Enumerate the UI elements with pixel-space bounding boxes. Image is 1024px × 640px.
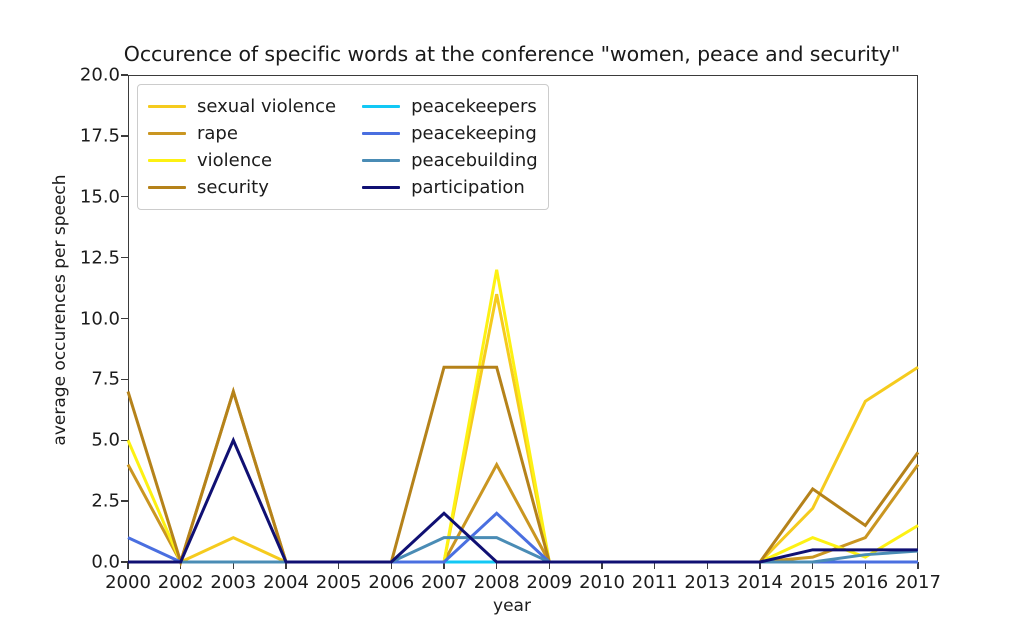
y-axis-tick-labels: 0.02.55.07.510.012.515.017.520.0	[60, 0, 120, 640]
y-axis-tick-label: 10.0	[80, 308, 120, 329]
x-axis-tick-label: 2015	[790, 572, 836, 593]
y-axis-tick-label: 12.5	[80, 247, 120, 268]
y-axis-tick-mark	[121, 196, 128, 197]
legend-entry: peacekeepers	[362, 93, 538, 120]
x-axis-tick-label: 2014	[737, 572, 783, 593]
x-axis-tick-label: 2005	[316, 572, 362, 593]
legend-entry: participation	[362, 174, 538, 201]
legend-color-swatch	[362, 159, 400, 162]
x-axis-tick-label: 2002	[158, 572, 204, 593]
legend-label: violence	[197, 150, 272, 171]
x-axis-tick-label: 2009	[526, 572, 572, 593]
legend-entry: peacekeeping	[362, 120, 538, 147]
y-axis-tick-label: 7.5	[91, 369, 120, 390]
legend-color-swatch	[148, 159, 186, 162]
x-axis-tick-label: 2000	[105, 572, 151, 593]
legend-color-swatch	[148, 132, 186, 135]
y-axis-tick-label: 15.0	[80, 186, 120, 207]
legend-label: peacekeepers	[411, 96, 537, 117]
y-axis-tick-label: 17.5	[80, 125, 120, 146]
legend-label: sexual violence	[197, 96, 336, 117]
legend-entry: violence	[148, 147, 336, 174]
legend-color-swatch	[362, 105, 400, 108]
x-axis-tick-label: 2016	[842, 572, 888, 593]
x-axis-tick-label: 2010	[579, 572, 625, 593]
legend-label: security	[197, 177, 269, 198]
x-axis-tick-label: 2003	[210, 572, 256, 593]
legend-entry: sexual violence	[148, 93, 336, 120]
y-axis-tick-mark	[121, 379, 128, 380]
y-axis-tick-mark	[121, 135, 128, 136]
x-axis-tick-label: 2011	[632, 572, 678, 593]
x-axis-tick-label: 2013	[684, 572, 730, 593]
legend-color-swatch	[362, 132, 400, 135]
y-axis-tick-mark	[121, 74, 128, 75]
legend-color-swatch	[148, 186, 186, 189]
x-axis-tick-label: 2017	[895, 572, 941, 593]
legend-color-swatch	[148, 105, 186, 108]
x-axis-tick-label: 2004	[263, 572, 309, 593]
x-axis-tick-label: 2006	[368, 572, 414, 593]
x-axis-tick-label: 2008	[474, 572, 520, 593]
series-line	[128, 270, 918, 562]
legend-entry: rape	[148, 120, 336, 147]
chart-figure: Occurence of specific words at the confe…	[0, 0, 1024, 640]
legend-entry: security	[148, 174, 336, 201]
y-axis-tick-mark	[121, 257, 128, 258]
y-axis-label-container: average occurences per speech	[26, 0, 50, 640]
x-axis-label: year	[0, 596, 1024, 616]
series-line	[128, 367, 918, 562]
y-axis-tick-mark	[121, 500, 128, 501]
legend-label: peacebuilding	[411, 150, 538, 171]
y-axis-tick-label: 2.5	[91, 491, 120, 512]
series-line	[128, 294, 918, 562]
legend-label: rape	[197, 123, 238, 144]
y-axis-tick-label: 20.0	[80, 65, 120, 86]
x-axis-tick-label: 2007	[421, 572, 467, 593]
legend-color-swatch	[362, 186, 400, 189]
legend-label: peacekeeping	[411, 123, 537, 144]
y-axis-tick-label: 5.0	[91, 430, 120, 451]
y-axis-tick-mark	[121, 318, 128, 319]
y-axis-tick-label: 0.0	[91, 552, 120, 573]
chart-title: Occurence of specific words at the confe…	[0, 42, 1024, 66]
chart-legend: sexual violencepeacekeepersrapepeacekeep…	[137, 84, 549, 210]
legend-entry: peacebuilding	[362, 147, 538, 174]
legend-label: participation	[411, 177, 525, 198]
